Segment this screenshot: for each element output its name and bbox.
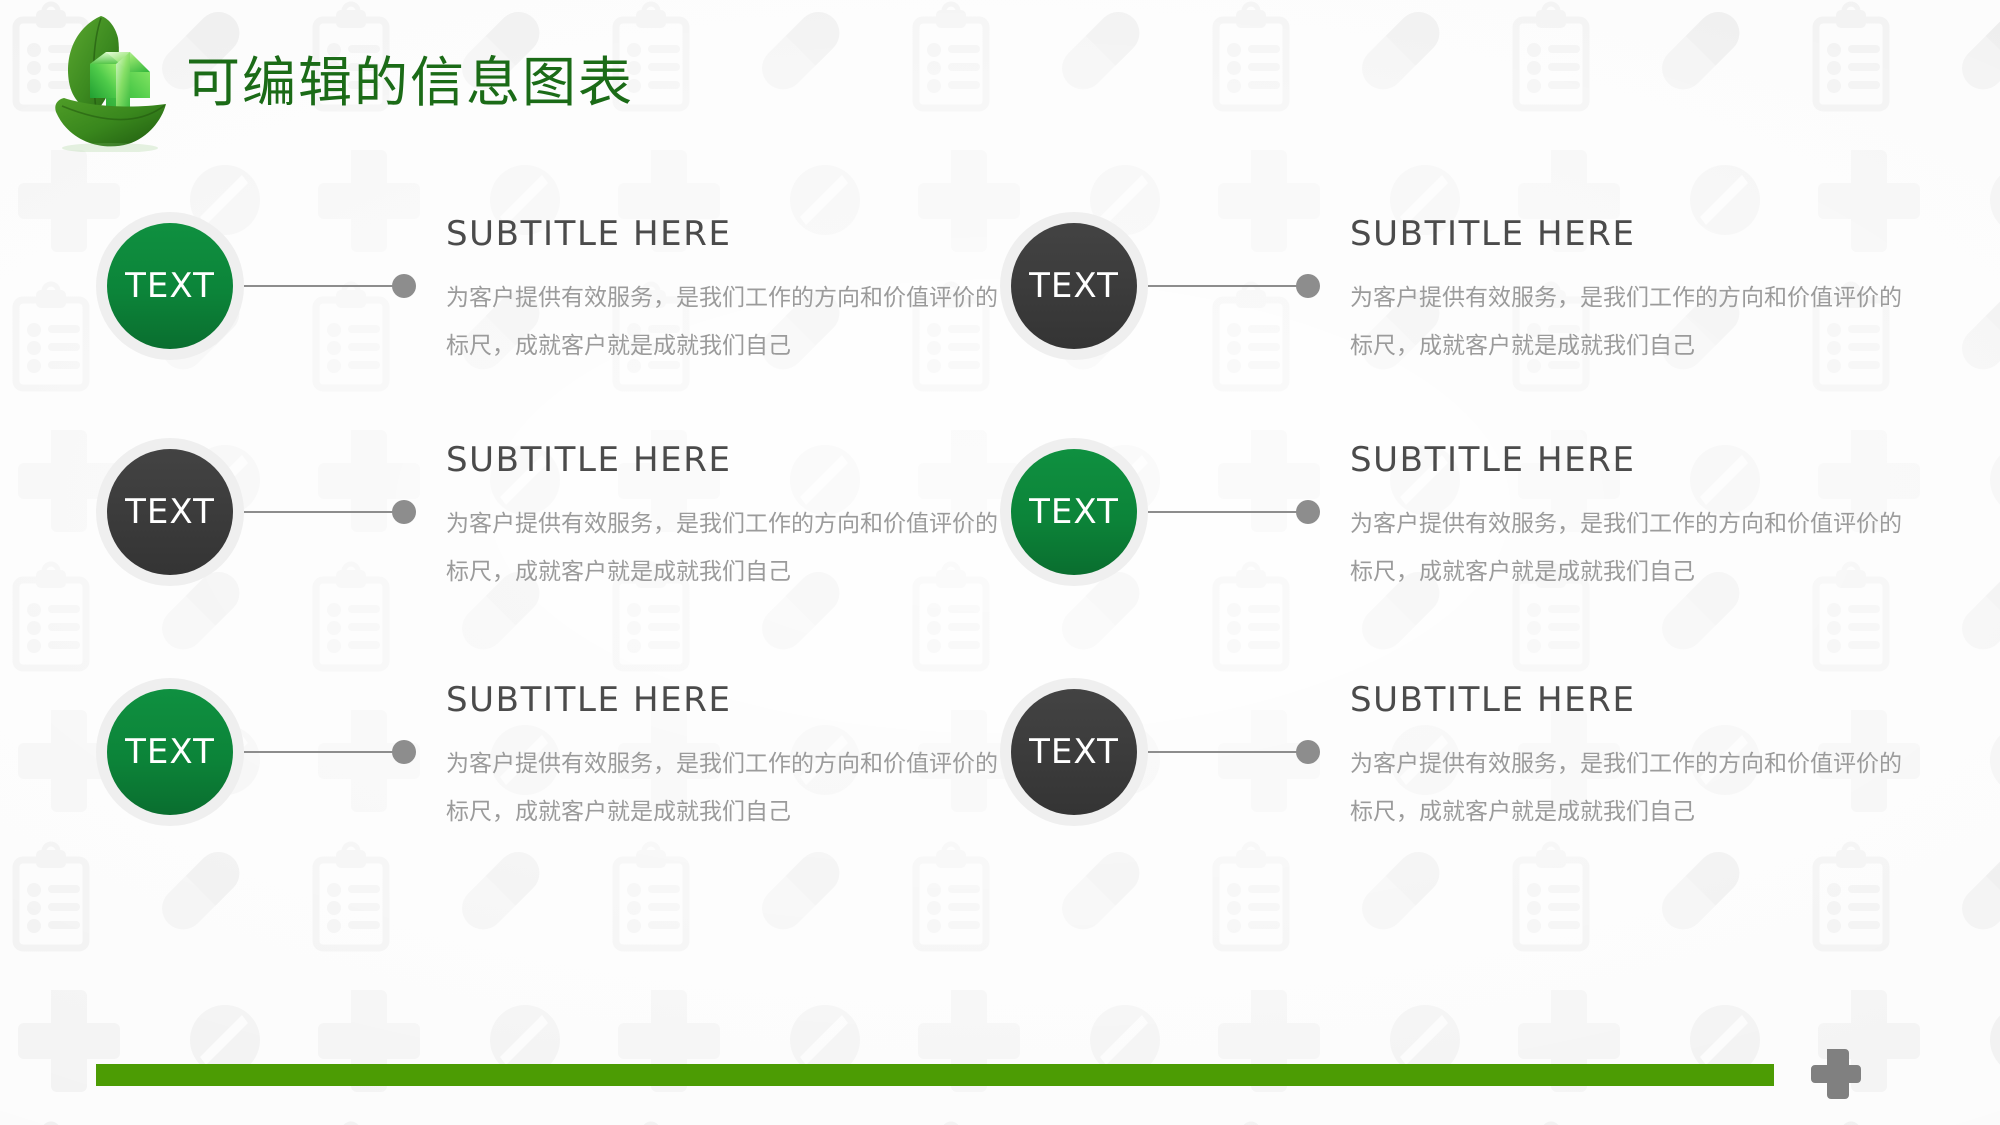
badge-wrap[interactable]: TEXT [1000, 212, 1148, 360]
badge-circle[interactable]: TEXT [107, 449, 233, 575]
connector-line [1148, 511, 1310, 513]
item-body: 为客户提供有效服务，是我们工作的方向和价值评价的标尺，成就客户就是成就我们自己 [1350, 740, 1915, 836]
connector-dot [1296, 500, 1320, 524]
connector-dot [1296, 274, 1320, 298]
badge-circle[interactable]: TEXT [1011, 689, 1137, 815]
item-body: 为客户提供有效服务，是我们工作的方向和价值评价的标尺，成就客户就是成就我们自己 [1350, 500, 1915, 596]
page-title: 可编辑的信息图表 [186, 50, 634, 116]
connector-dot [392, 740, 416, 764]
badge-circle[interactable]: TEXT [1011, 223, 1137, 349]
item-body: 为客户提供有效服务，是我们工作的方向和价值评价的标尺，成就客户就是成就我们自己 [446, 500, 1011, 596]
item-body: 为客户提供有效服务，是我们工作的方向和价值评价的标尺，成就客户就是成就我们自己 [446, 740, 1011, 836]
item-text: SUBTITLE HERE 为客户提供有效服务，是我们工作的方向和价值评价的标尺… [1350, 438, 1930, 596]
green-leaf-cross-logo [38, 12, 170, 152]
connector-line [244, 751, 406, 753]
infographic-item[interactable]: TEXT SUBTITLE HERE 为客户提供有效服务，是我们工作的方向和价值… [1000, 438, 1940, 664]
item-body: 为客户提供有效服务，是我们工作的方向和价值评价的标尺，成就客户就是成就我们自己 [446, 274, 1011, 370]
slide-content: 可编辑的信息图表 TEXT SUBTITLE HERE 为客户提供有效服务，是我… [0, 0, 2000, 1125]
item-text: SUBTITLE HERE 为客户提供有效服务，是我们工作的方向和价值评价的标尺… [1350, 212, 1930, 370]
item-subtitle: SUBTITLE HERE [1350, 678, 1930, 722]
item-text: SUBTITLE HERE 为客户提供有效服务，是我们工作的方向和价值评价的标尺… [446, 212, 1026, 370]
connector-line [1148, 285, 1310, 287]
item-subtitle: SUBTITLE HERE [446, 438, 1026, 482]
connector-line [1148, 751, 1310, 753]
item-subtitle: SUBTITLE HERE [446, 678, 1026, 722]
badge-circle[interactable]: TEXT [107, 689, 233, 815]
connector-dot [1296, 740, 1320, 764]
infographic-item[interactable]: TEXT SUBTITLE HERE 为客户提供有效服务，是我们工作的方向和价值… [1000, 678, 1940, 904]
item-subtitle: SUBTITLE HERE [446, 212, 1026, 256]
badge-wrap[interactable]: TEXT [1000, 438, 1148, 586]
item-subtitle: SUBTITLE HERE [1350, 212, 1930, 256]
connector-dot [392, 500, 416, 524]
gray-plus-icon [1810, 1048, 1862, 1100]
infographic-item[interactable]: TEXT SUBTITLE HERE 为客户提供有效服务，是我们工作的方向和价值… [96, 212, 1036, 438]
infographic-item[interactable]: TEXT SUBTITLE HERE 为客户提供有效服务，是我们工作的方向和价值… [1000, 212, 1940, 438]
infographic-item[interactable]: TEXT SUBTITLE HERE 为客户提供有效服务，是我们工作的方向和价值… [96, 438, 1036, 664]
item-subtitle: SUBTITLE HERE [1350, 438, 1930, 482]
item-text: SUBTITLE HERE 为客户提供有效服务，是我们工作的方向和价值评价的标尺… [1350, 678, 1930, 836]
item-body: 为客户提供有效服务，是我们工作的方向和价值评价的标尺，成就客户就是成就我们自己 [1350, 274, 1915, 370]
footer-accent-bar [96, 1064, 1774, 1086]
infographic-item[interactable]: TEXT SUBTITLE HERE 为客户提供有效服务，是我们工作的方向和价值… [96, 678, 1036, 904]
connector-line [244, 285, 406, 287]
slide-root: 可编辑的信息图表 TEXT SUBTITLE HERE 为客户提供有效服务，是我… [0, 0, 2000, 1125]
item-text: SUBTITLE HERE 为客户提供有效服务，是我们工作的方向和价值评价的标尺… [446, 678, 1026, 836]
item-text: SUBTITLE HERE 为客户提供有效服务，是我们工作的方向和价值评价的标尺… [446, 438, 1026, 596]
badge-wrap[interactable]: TEXT [96, 678, 244, 826]
badge-circle[interactable]: TEXT [107, 223, 233, 349]
badge-wrap[interactable]: TEXT [1000, 678, 1148, 826]
badge-wrap[interactable]: TEXT [96, 212, 244, 360]
connector-line [244, 511, 406, 513]
badge-circle[interactable]: TEXT [1011, 449, 1137, 575]
badge-wrap[interactable]: TEXT [96, 438, 244, 586]
slide-header: 可编辑的信息图表 [0, 0, 2000, 165]
connector-dot [392, 274, 416, 298]
